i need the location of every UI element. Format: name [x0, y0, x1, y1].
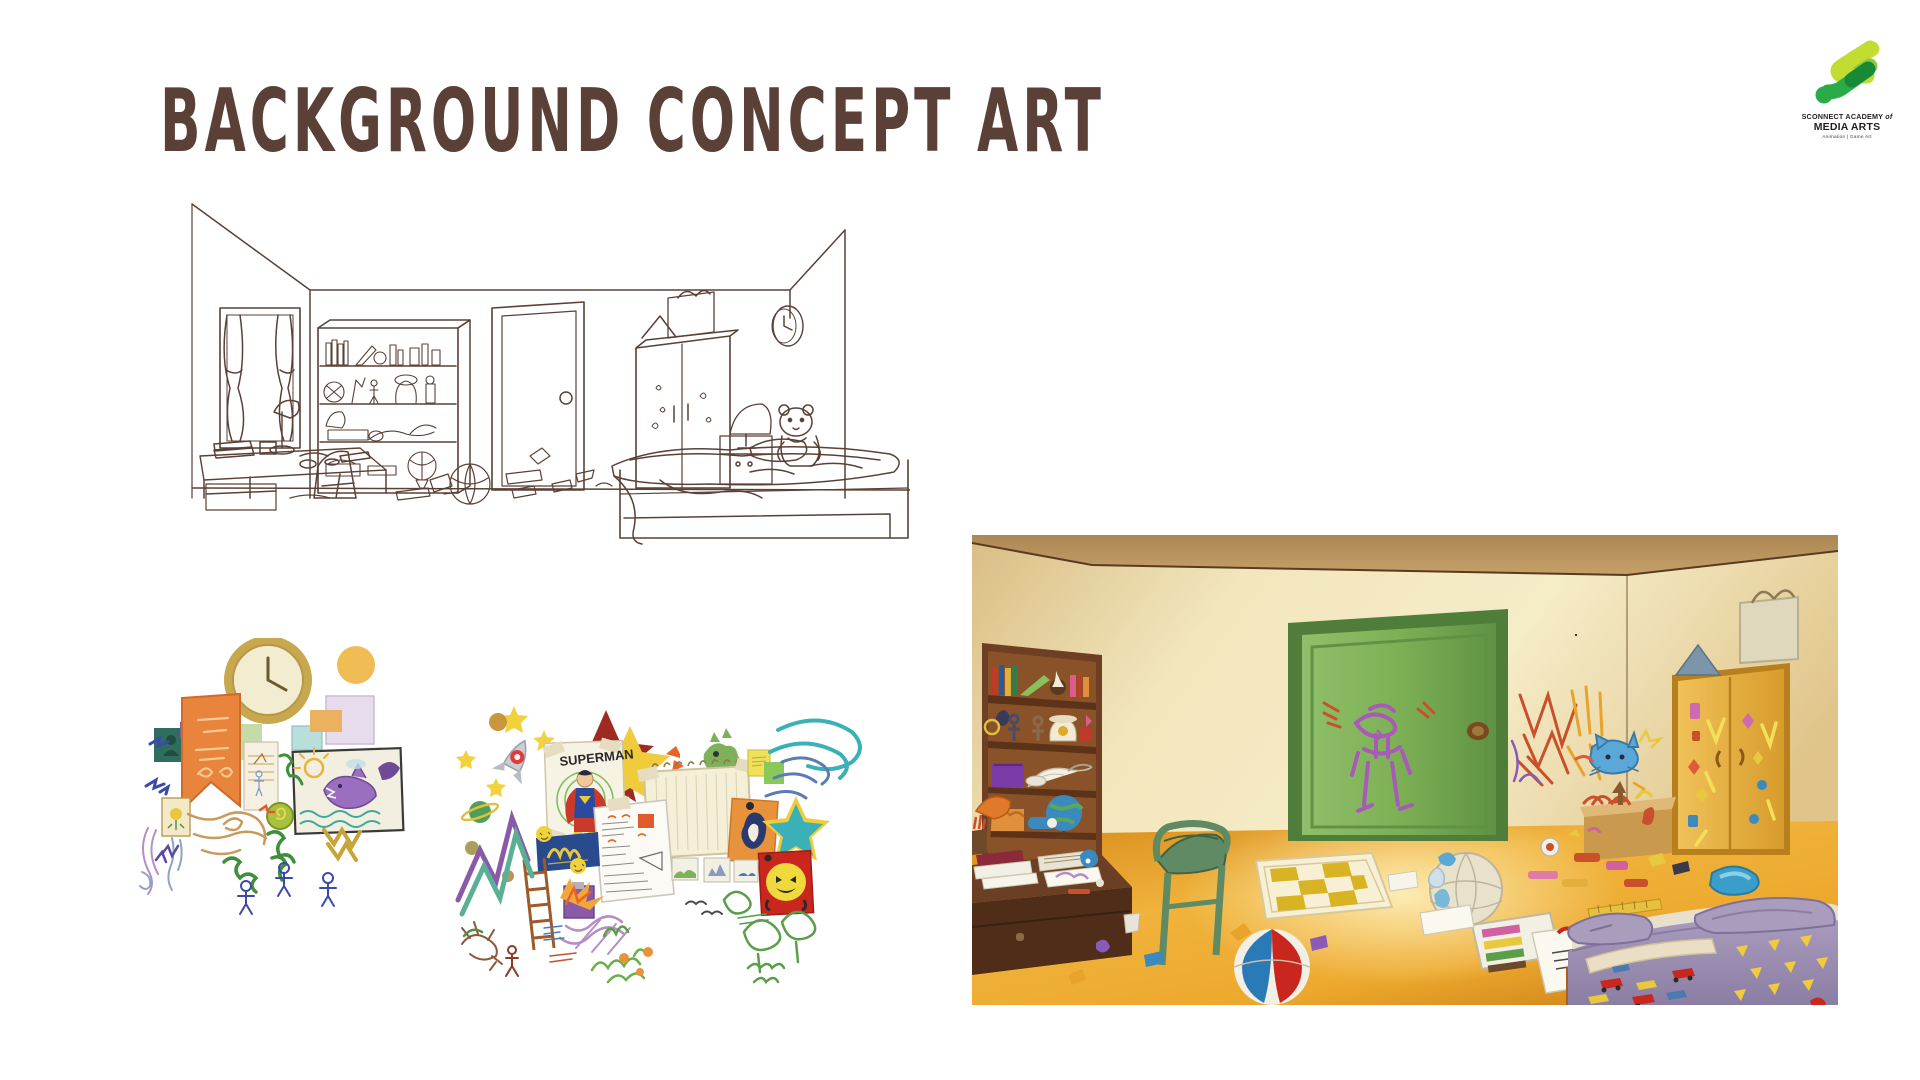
brand-tagline: Animation | Game Art: [1792, 135, 1902, 140]
page-title: BACKGROUND CONCEPT ART: [160, 78, 1105, 165]
wall-clock-main: [1575, 634, 1577, 636]
brand-name-line2: MEDIA ARTS: [1792, 121, 1902, 133]
prop-collage-right: SUPERMAN: [448, 700, 868, 1000]
beach-ball: [1234, 929, 1310, 1005]
brand-logo: SCONNECT ACADEMY of MEDIA ARTS Animation…: [1792, 36, 1902, 140]
green-door: [1288, 609, 1508, 841]
shark-crayon-drawing: [293, 748, 404, 834]
bookshelf: [982, 643, 1102, 879]
brand-academy-text: SCONNECT ACADEMY: [1802, 112, 1883, 121]
lineart-sketch: [190, 198, 910, 598]
orange-pennant-banner: [182, 694, 240, 810]
brand-name-line1: SCONNECT ACADEMY of: [1792, 112, 1902, 121]
smiley-monster-card: [758, 851, 813, 916]
yellow-circle: [337, 646, 375, 684]
sconnect-s-logo-icon: [1812, 36, 1882, 106]
checkered-mat: [1256, 853, 1392, 919]
photo-strip: [672, 858, 758, 882]
right-wall-group: [1575, 634, 1577, 636]
slide-canvas: BACKGROUND CONCEPT ART SCONNECT ACADEMY …: [0, 0, 1920, 1080]
worksheet: [594, 797, 674, 902]
color-render: [972, 535, 1838, 1005]
prop-collage-left: [128, 638, 428, 923]
brand-of-text: of: [1885, 112, 1892, 121]
